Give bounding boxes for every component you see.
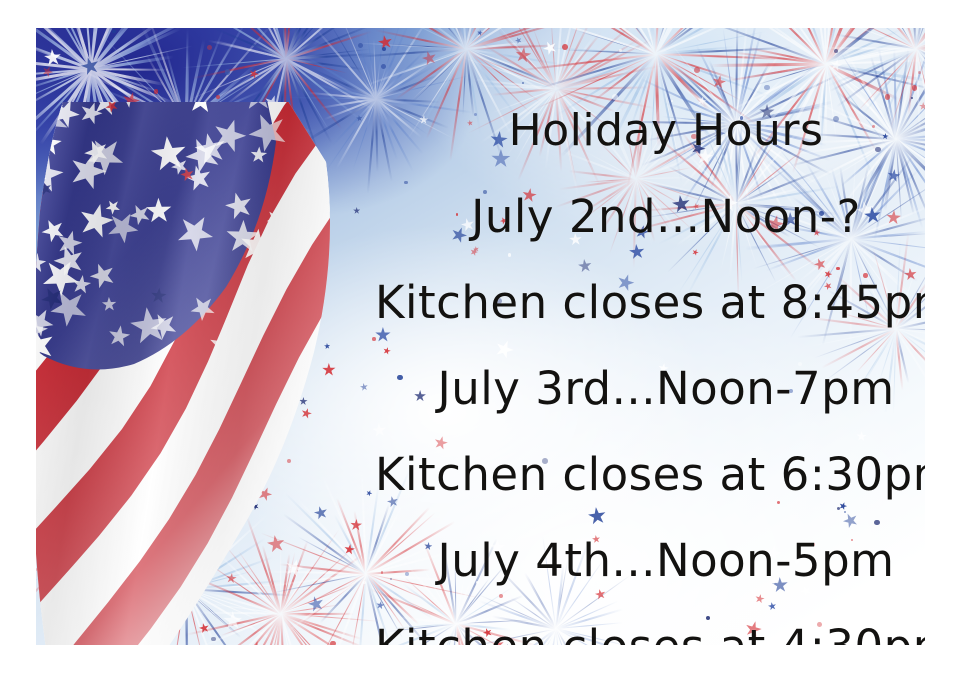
- july-2-kitchen-line: Kitchen closes at 8:45pm: [366, 260, 925, 346]
- july-3-hours-line: July 3rd...Noon-7pm: [366, 346, 925, 432]
- poster-title: Holiday Hours: [366, 88, 925, 174]
- poster-artboard: Holiday Hours July 2nd...Noon-? Kitchen …: [36, 28, 925, 645]
- holiday-hours-poster: Holiday Hours July 2nd...Noon-? Kitchen …: [0, 0, 960, 674]
- july-2-hours-line: July 2nd...Noon-?: [366, 174, 925, 260]
- july-3-kitchen-line: Kitchen closes at 6:30pm: [366, 432, 925, 518]
- july-4-kitchen-line: Kitchen closes at 4:30pm: [366, 604, 925, 645]
- hours-text-block: Holiday Hours July 2nd...Noon-? Kitchen …: [366, 88, 925, 645]
- july-4-hours-line: July 4th...Noon-5pm: [366, 518, 925, 604]
